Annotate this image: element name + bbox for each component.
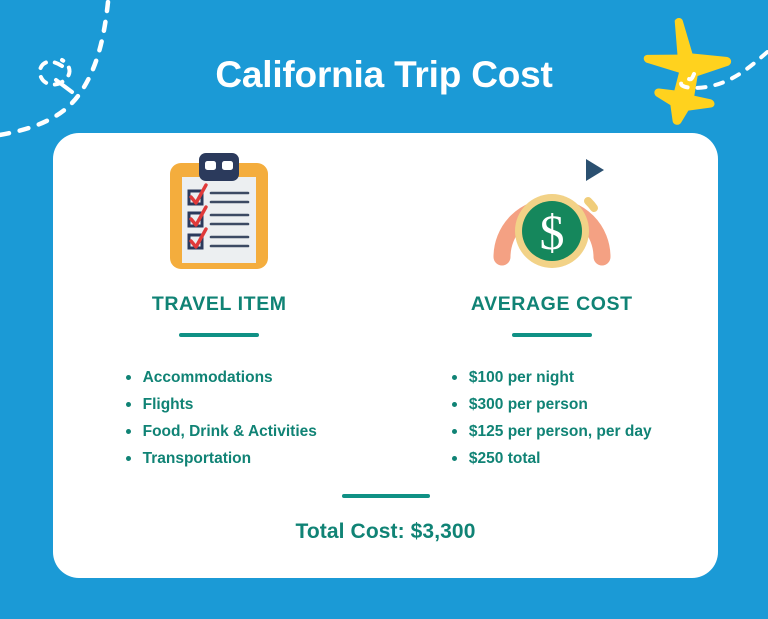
list-item: Transportation (126, 445, 317, 472)
list-item: $100 per night (452, 364, 652, 391)
column-travel-item: Travel Item Accommodations Flights Food,… (53, 133, 386, 472)
column-heading-travel-item: Travel Item (152, 293, 287, 316)
list-item: Flights (126, 391, 317, 418)
heading-divider-right (512, 333, 592, 337)
svg-text:$: $ (539, 204, 564, 260)
column-average-cost: $ Average Cost $100 per night $300 per p… (386, 133, 719, 472)
list-item: $300 per person (452, 391, 652, 418)
list-item: Accommodations (126, 364, 317, 391)
dollar-coin-icon: $ (493, 145, 611, 269)
total-section: Total Cost: $3,300 (53, 494, 718, 544)
comparison-columns: Travel Item Accommodations Flights Food,… (53, 133, 718, 472)
play-triangle-icon (586, 159, 604, 181)
page-title: California Trip Cost (0, 54, 768, 96)
heading-divider-left (179, 333, 259, 337)
travel-item-list: Accommodations Flights Food, Drink & Act… (126, 364, 317, 472)
clipboard-checklist-icon (168, 145, 270, 269)
column-heading-average-cost: Average Cost (471, 293, 633, 316)
total-divider (342, 494, 430, 498)
total-cost-label: Total Cost: $3,300 (296, 520, 476, 544)
list-item: $125 per person, per day (452, 418, 652, 445)
list-item: Food, Drink & Activities (126, 418, 317, 445)
info-card: Travel Item Accommodations Flights Food,… (53, 133, 718, 578)
list-item: $250 total (452, 445, 652, 472)
average-cost-list: $100 per night $300 per person $125 per … (452, 364, 652, 472)
